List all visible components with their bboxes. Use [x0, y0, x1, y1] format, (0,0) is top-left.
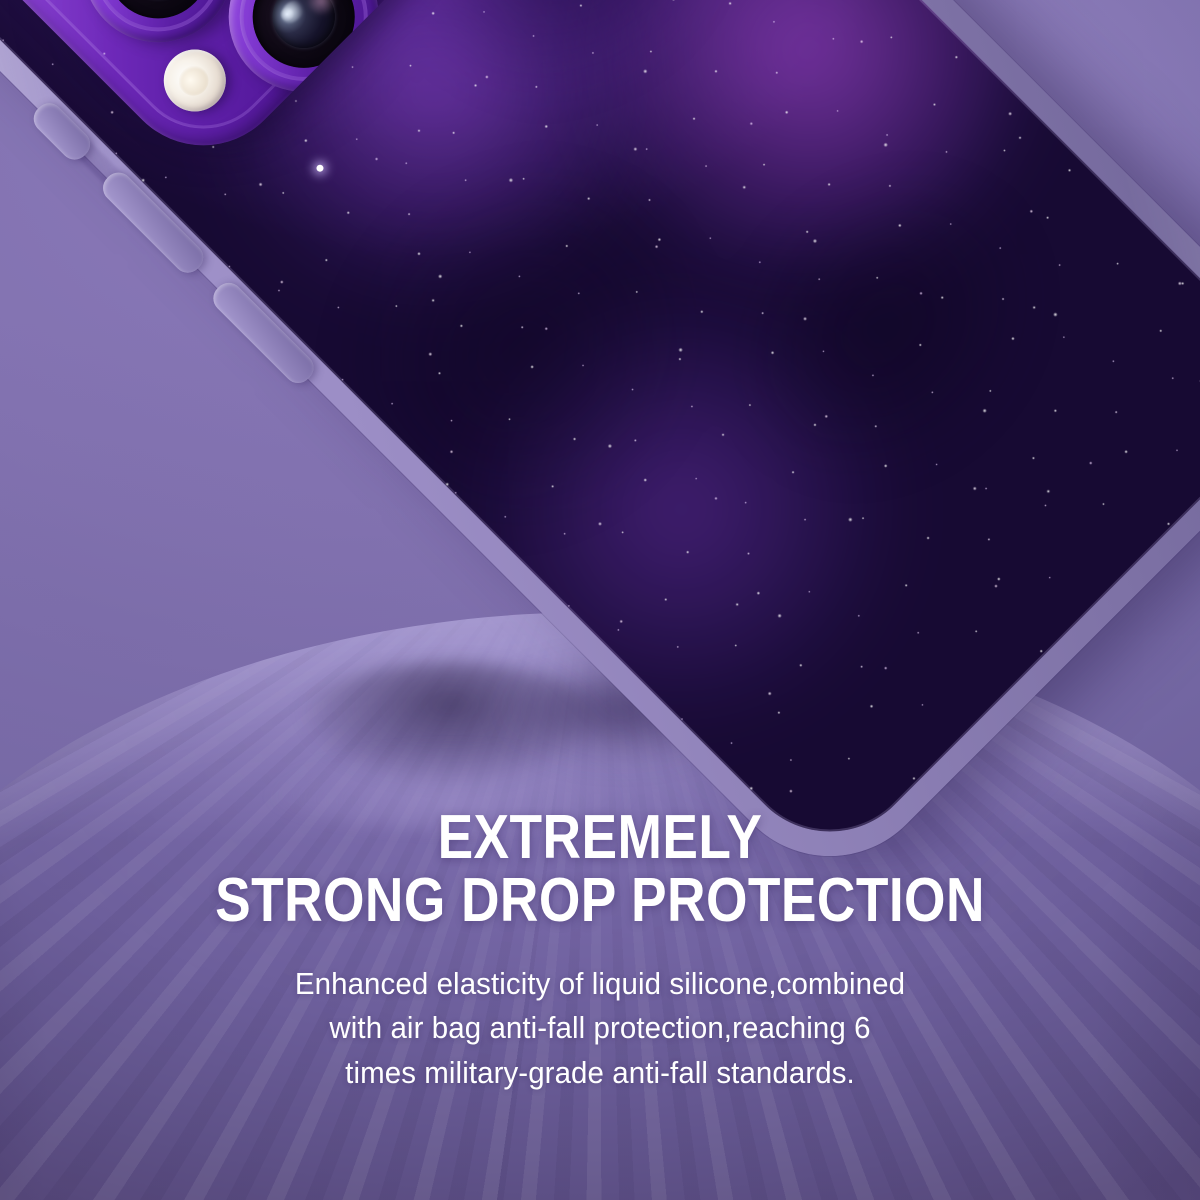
body-line-1: Enhanced elasticity of liquid silicone,c…: [97, 962, 1104, 1006]
headline-line-1: EXTREMELY: [438, 803, 763, 872]
body-line-3: times military-grade anti-fall standards…: [97, 1051, 1104, 1095]
body-line-2: with air bag anti-fall protection,reachi…: [97, 1006, 1104, 1050]
body-copy: Enhanced elasticity of liquid silicone,c…: [97, 962, 1104, 1094]
headline: EXTREMELY STRONG DROP PROTECTION: [144, 806, 1056, 932]
marketing-copy-block: EXTREMELY STRONG DROP PROTECTION Enhance…: [0, 806, 1200, 1095]
product-marketing-image: duo camera: [0, 0, 1200, 1200]
headline-line-2: STRONG DROP PROTECTION: [144, 869, 1056, 932]
